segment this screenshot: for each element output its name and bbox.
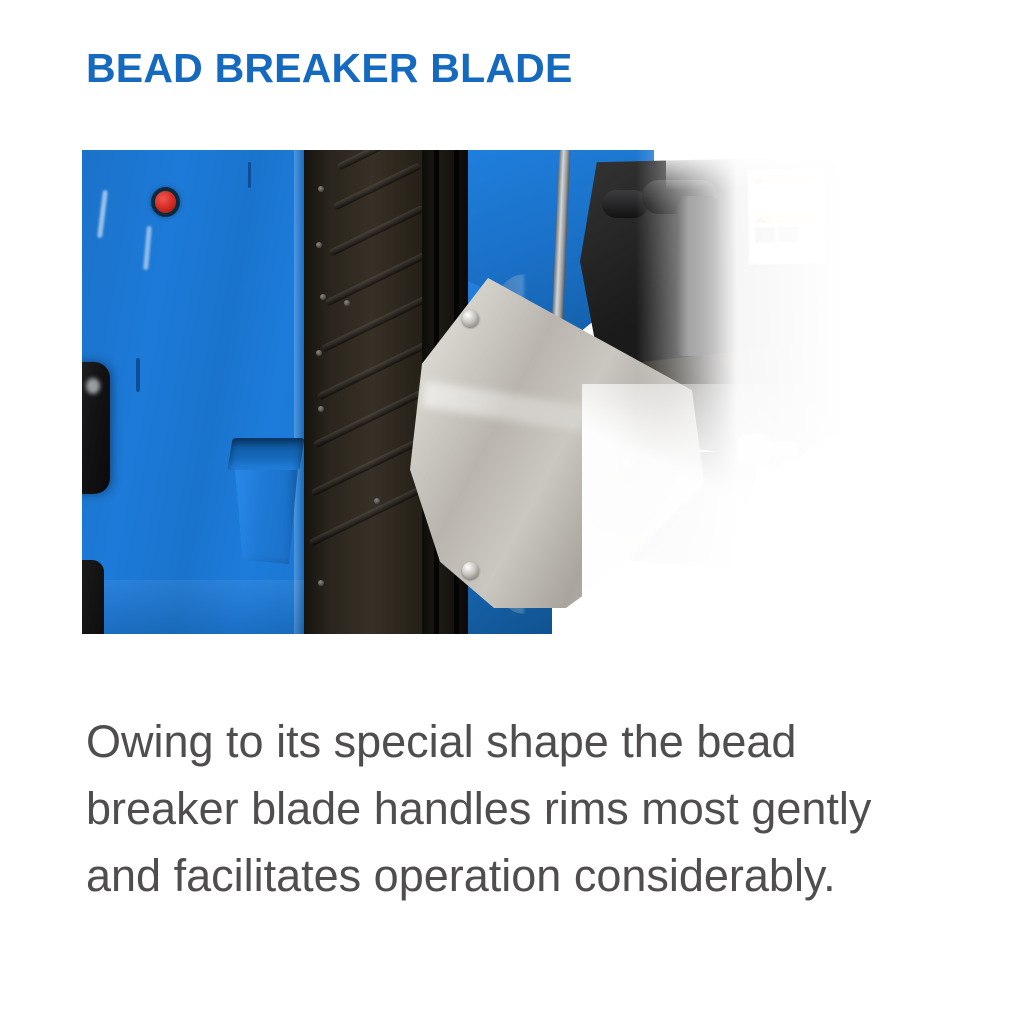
blade-bolt (462, 310, 479, 327)
column-bolt (318, 406, 324, 412)
red-push-button (155, 191, 176, 213)
photo-fade-bottom-right (582, 384, 846, 634)
blade-bolt (462, 562, 479, 579)
column-rib (328, 205, 425, 257)
column-bolt (344, 300, 350, 306)
product-photo (82, 150, 846, 634)
column-bolt (316, 350, 322, 356)
panel-slot-mark (136, 358, 140, 392)
column-rib (332, 162, 421, 210)
panel-slot-mark (248, 162, 251, 188)
column-bolt (318, 580, 324, 586)
page-title: BEAD BREAKER BLADE (86, 45, 573, 92)
tool-pocket-mouth (227, 438, 304, 470)
column-bolt (318, 186, 324, 192)
column-bolt (374, 498, 380, 504)
column-rib (324, 251, 428, 306)
black-lower-side-component (82, 560, 104, 634)
tool-pocket-body (234, 460, 298, 564)
description-text: Owing to its special shape the bead brea… (86, 708, 916, 909)
column-rib (320, 294, 431, 353)
product-feature-panel: BEAD BREAKER BLADE (0, 0, 1024, 1024)
blue-tool-pocket (222, 438, 308, 566)
black-side-component-highlight (86, 378, 100, 394)
column-bolt (320, 294, 326, 300)
column-bolt (316, 242, 322, 248)
